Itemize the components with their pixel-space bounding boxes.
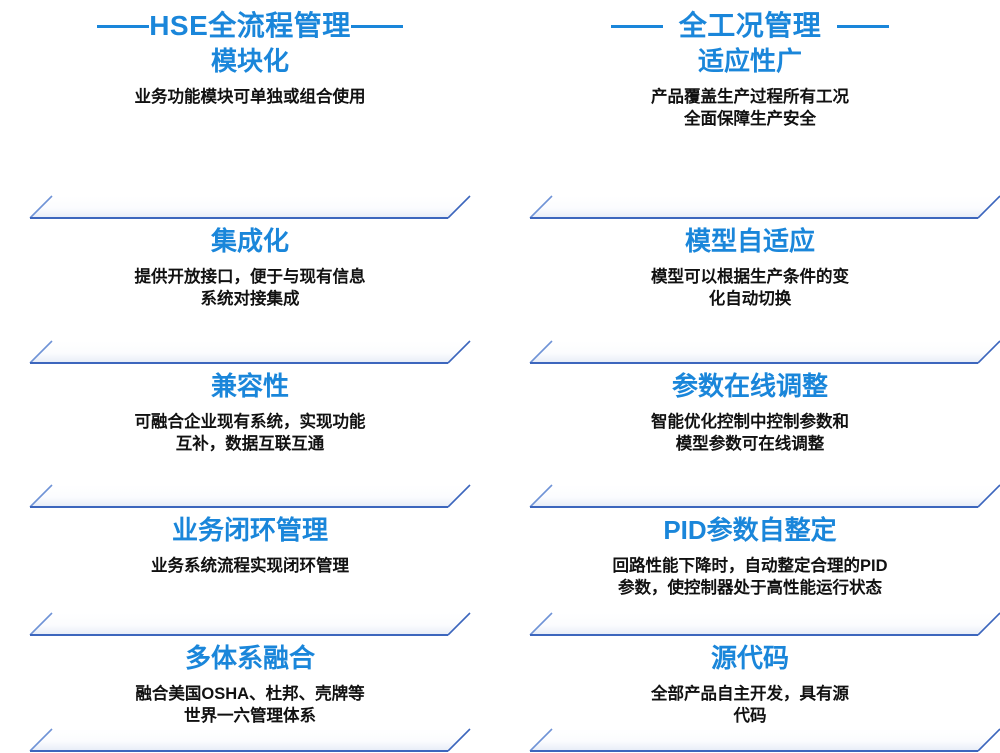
column-title-condition: 全工况管理 bbox=[500, 12, 1000, 40]
title-rule-right-icon bbox=[351, 25, 403, 28]
column-hse: HSE全流程管理 模块化 业务功能模块可单独或组合使用 bbox=[0, 0, 500, 699]
column-title-text: HSE全流程管理 bbox=[149, 12, 351, 40]
feature-heading: 参数在线调整 bbox=[672, 371, 828, 402]
feature-board: HSE全流程管理 模块化 业务功能模块可单独或组合使用 bbox=[0, 0, 1000, 699]
feature-description: 全部产品自主开发，具有源 代码 bbox=[651, 674, 849, 727]
feature-block: 模型自适应 模型可以根据生产条件的变 化自动切换 bbox=[500, 220, 1000, 365]
title-rule-left-icon bbox=[97, 25, 149, 28]
feature-heading: PID参数自整定 bbox=[663, 515, 836, 546]
column-condition: 全工况管理 适应性广 产品覆盖生产过程所有工况 全面保障生产安全 bbox=[500, 0, 1000, 699]
feature-block: 兼容性 可融合企业现有系统，实现功能 互补，数据互联互通 bbox=[0, 365, 500, 509]
title-rule-left-icon bbox=[611, 25, 663, 28]
feature-description: 融合美国OSHA、杜邦、壳牌等 世界一六管理体系 bbox=[135, 674, 364, 727]
feature-block: 业务闭环管理 业务系统流程实现闭环管理 bbox=[0, 509, 500, 637]
feature-description: 提供开放接口，便于与现有信息 系统对接集成 bbox=[135, 257, 366, 310]
feature-block: 多体系融合 融合美国OSHA、杜邦、壳牌等 世界一六管理体系 bbox=[0, 637, 500, 739]
feature-heading: 多体系融合 bbox=[185, 643, 315, 674]
ribbon-divider-icon bbox=[0, 194, 500, 220]
column-title-hse: HSE全流程管理 bbox=[0, 12, 500, 40]
feature-block: 参数在线调整 智能优化控制中控制参数和 模型参数可在线调整 bbox=[500, 365, 1000, 509]
feature-heading: 适应性广 bbox=[698, 46, 802, 77]
feature-block: PID参数自整定 回路性能下降时，自动整定合理的PID 参数，使控制器处于高性能… bbox=[500, 509, 1000, 637]
ribbon-divider-icon bbox=[500, 727, 1000, 753]
feature-block: 集成化 提供开放接口，便于与现有信息 系统对接集成 bbox=[0, 220, 500, 365]
feature-description: 回路性能下降时，自动整定合理的PID 参数，使控制器处于高性能运行状态 bbox=[612, 546, 887, 599]
feature-description: 可融合企业现有系统，实现功能 互补，数据互联互通 bbox=[135, 402, 366, 455]
feature-block: 源代码 全部产品自主开发，具有源 代码 bbox=[500, 637, 1000, 739]
feature-description: 业务功能模块可单独或组合使用 bbox=[135, 77, 366, 108]
ribbon-divider-icon bbox=[0, 339, 500, 365]
blocks-condition: 适应性广 产品覆盖生产过程所有工况 全面保障生产安全 bbox=[500, 40, 1000, 739]
feature-heading: 集成化 bbox=[211, 226, 289, 257]
column-title-text: 全工况管理 bbox=[679, 12, 822, 40]
feature-description: 产品覆盖生产过程所有工况 全面保障生产安全 bbox=[651, 77, 849, 130]
ribbon-divider-icon bbox=[0, 727, 500, 753]
feature-description: 模型可以根据生产条件的变 化自动切换 bbox=[651, 257, 849, 310]
feature-block: 模块化 业务功能模块可单独或组合使用 bbox=[0, 40, 500, 220]
feature-description: 智能优化控制中控制参数和 模型参数可在线调整 bbox=[651, 402, 849, 455]
feature-heading: 模块化 bbox=[211, 46, 289, 77]
feature-heading: 兼容性 bbox=[211, 371, 289, 402]
ribbon-divider-icon bbox=[500, 194, 1000, 220]
title-rule-right-icon bbox=[837, 25, 889, 28]
blocks-hse: 模块化 业务功能模块可单独或组合使用 bbox=[0, 40, 500, 739]
ribbon-divider-icon bbox=[500, 483, 1000, 509]
feature-description: 业务系统流程实现闭环管理 bbox=[151, 546, 349, 577]
feature-heading: 业务闭环管理 bbox=[172, 515, 328, 546]
feature-heading: 源代码 bbox=[711, 643, 789, 674]
ribbon-divider-icon bbox=[500, 611, 1000, 637]
ribbon-divider-icon bbox=[0, 611, 500, 637]
ribbon-divider-icon bbox=[0, 483, 500, 509]
feature-heading: 模型自适应 bbox=[685, 226, 815, 257]
feature-block: 适应性广 产品覆盖生产过程所有工况 全面保障生产安全 bbox=[500, 40, 1000, 220]
ribbon-divider-icon bbox=[500, 339, 1000, 365]
